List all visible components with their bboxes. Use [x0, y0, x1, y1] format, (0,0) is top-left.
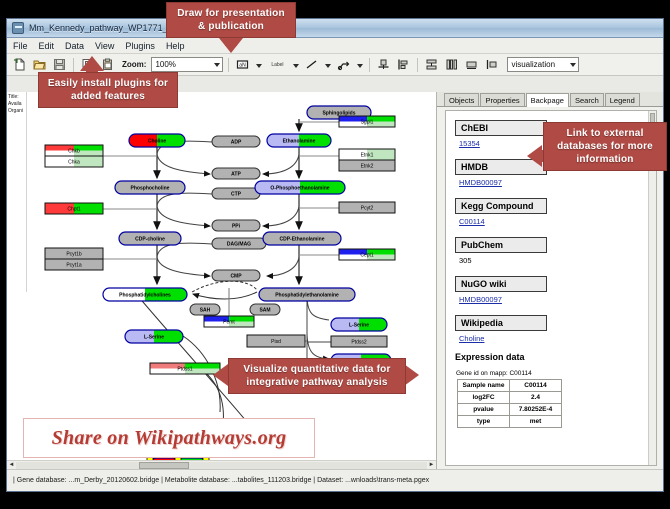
interaction-icon[interactable] [335, 56, 352, 73]
chevron-down-icon-2 [570, 63, 576, 67]
share-banner: Share on Wikipathways.org [23, 418, 315, 458]
side-panel-tabs: Objects Properties Backpage Search Legen… [437, 92, 663, 107]
cofactor-node[interactable]: DAG/MAG [212, 238, 266, 249]
toolbar-separator-4 [417, 58, 418, 72]
nugo-header: NuGO wiki [455, 276, 547, 292]
menu-data[interactable]: Data [64, 41, 85, 51]
toolbar-separator-2 [228, 58, 229, 72]
label-dropdown[interactable] [291, 57, 300, 73]
scroll-thumb[interactable] [139, 462, 188, 469]
metabolite-node-choline-top[interactable]: Choline [129, 134, 185, 147]
canvas-horizontal-scrollbar[interactable]: ◄ ► [7, 460, 436, 469]
hmdb-link[interactable]: HMDB00097 [459, 178, 656, 187]
cofactor-node[interactable]: SAM [250, 304, 280, 315]
zoom-value: 100% [155, 60, 175, 69]
pathway-canvas[interactable]: Title: Availa Organi [7, 92, 437, 469]
cell-sample-name-key: Sample name [458, 380, 510, 392]
menu-view[interactable]: View [94, 41, 115, 51]
status-bar: | Gene database: ...m_Derby_20120602.bri… [7, 469, 663, 491]
callout-visual-arrow-right [404, 364, 419, 386]
cell-pvalue-val: 7.80252E-4 [510, 404, 562, 416]
pubchem-value: 305 [459, 256, 656, 265]
expression-data-title: Expression data [455, 352, 656, 362]
table-row: pvalue 7.80252E-4 [458, 404, 562, 416]
kegg-header: Kegg Compound [455, 198, 547, 214]
tab-search[interactable]: Search [570, 93, 604, 106]
metabolite-node-l-serine-right[interactable]: L-Serine [331, 318, 387, 331]
callout-easily-install-plugins: Easily install plugins for added feature… [38, 72, 178, 108]
callout-visualize-quantitative-data: Visualize quantitative data for integrat… [228, 358, 406, 394]
chebi-header: ChEBI [455, 120, 547, 136]
toolbar-separator [73, 58, 74, 72]
tab-legend[interactable]: Legend [605, 93, 640, 106]
metabolite-node-cdp-choline[interactable]: CDP-choline [119, 232, 181, 245]
cofactor-node[interactable]: CMP [212, 270, 260, 281]
wikipedia-link[interactable]: Choline [459, 334, 656, 343]
stack-vertical-icon[interactable] [423, 56, 440, 73]
new-file-icon[interactable] [11, 56, 28, 73]
metabolite-node-o-phosphoethanolamine[interactable]: O-Phosphoethanolamine [255, 181, 345, 194]
toolbar-separator-3 [369, 58, 370, 72]
visualization-combo[interactable]: visualization [507, 57, 579, 72]
zoom-label: Zoom: [122, 60, 146, 69]
gene-node-chkb[interactable]: Chkb [45, 145, 103, 156]
pubchem-header: PubChem [455, 237, 547, 253]
table-row: type met [458, 416, 562, 428]
pathvisio-icon [12, 22, 24, 34]
tab-objects[interactable]: Objects [444, 93, 479, 106]
gene-node-chka[interactable]: Chka [45, 156, 103, 167]
table-row: Sample name C00114 [458, 380, 562, 392]
zoom-combo[interactable]: 100% [151, 57, 223, 72]
scroll-track[interactable] [16, 462, 427, 469]
menu-edit[interactable]: Edit [38, 41, 56, 51]
table-row: log2FC 2.4 [458, 392, 562, 404]
metabolite-node-phosphatidylcholines[interactable]: Phosphatidylcholines [103, 288, 187, 301]
gene-id-on-mapp: Gene id on mapp: C00114 [456, 370, 656, 377]
metabolite-node-cdp-ethanolamine[interactable]: CDP-Ethanolamine [263, 232, 341, 245]
gene-node-pisd[interactable]: Pisd [247, 335, 305, 347]
nugo-link[interactable]: HMDB00097 [459, 295, 656, 304]
cofactor-node[interactable]: CTP [212, 188, 260, 199]
metabolite-node-l-serine-left[interactable]: L-Serine [125, 330, 183, 343]
cell-type-val: met [510, 416, 562, 428]
cofactor-node[interactable]: PPi [212, 220, 260, 231]
scroll-right-icon[interactable]: ► [427, 461, 436, 470]
title-bar: Mm_Kennedy_pathway_WP1771_45176.gpml [7, 19, 663, 38]
menu-file[interactable]: File [12, 41, 29, 51]
cofactor-node[interactable]: SAH [190, 304, 220, 315]
tab-properties[interactable]: Properties [480, 93, 524, 106]
label-icon[interactable]: Label [266, 56, 288, 73]
gene-node-pcyt1b[interactable]: Pcyt1b [45, 248, 103, 259]
group-icon[interactable] [483, 56, 500, 73]
size-equal-icon[interactable] [463, 56, 480, 73]
gene-node-etnk2[interactable]: Etnk2 [339, 160, 395, 171]
status-text: | Gene database: ...m_Derby_20120602.bri… [13, 477, 429, 484]
kegg-link[interactable]: C00114 [459, 217, 656, 226]
gene-node-pemt[interactable]: Pemt [204, 316, 254, 327]
align-left-icon[interactable] [395, 56, 412, 73]
line-icon[interactable] [303, 56, 320, 73]
callout-link-to-external-databases: Link to external databases for more info… [543, 122, 667, 171]
align-bottom-icon[interactable] [375, 56, 392, 73]
svg-text:aN: aN [240, 62, 247, 68]
label-icon-text: Label [271, 62, 283, 68]
chevron-down-icon [214, 63, 220, 67]
metabolite-node-phosphatidylethanolamine[interactable]: Phosphatidylethanolamine [259, 288, 355, 301]
cell-log2fc-key: log2FC [458, 392, 510, 404]
scroll-left-icon[interactable]: ◄ [7, 461, 16, 470]
gene-node-ptdss1[interactable]: Ptdss1 [150, 363, 220, 374]
cell-type-key: type [458, 416, 510, 428]
interaction-dropdown[interactable] [355, 57, 364, 73]
metabolite-node-phosphocholine[interactable]: Phosphocholine [115, 181, 185, 194]
menu-bar: File Edit Data View Plugins Help [7, 38, 663, 54]
gene-node-pcyt2[interactable]: Pcyt2 [339, 202, 395, 213]
cell-log2fc-val: 2.4 [510, 392, 562, 404]
callout-plugins-arrow [80, 56, 104, 71]
cell-sample-name-val: C00114 [510, 380, 562, 392]
gene-node-pcyt1a[interactable]: Pcyt1a [45, 259, 103, 270]
callout-draw-for-presentation: Draw for presentation & publication [166, 2, 296, 38]
gene-node-sgpl1[interactable]: Sgpl1 [339, 116, 395, 127]
cell-pvalue-key: pvalue [458, 404, 510, 416]
open-folder-icon[interactable] [31, 56, 48, 73]
metabolite-node-ethanolamine[interactable]: Ethanolamine [267, 134, 331, 147]
gene-node-ptdss2[interactable]: Ptdss2 [331, 336, 387, 347]
wikipedia-header: Wikipedia [455, 315, 547, 331]
pathway-graph[interactable]: ADPATPCTPPPiDAG/MAGCMPSAHSAM Sphingolipi… [7, 92, 437, 469]
datanode-dropdown[interactable] [254, 57, 263, 73]
visualization-value: visualization [511, 60, 555, 69]
gene-node-chpt1[interactable]: Chpt1 [45, 203, 103, 214]
menu-help[interactable]: Help [165, 41, 186, 51]
gene-node-etnk1[interactable]: Etnk1 [339, 149, 395, 160]
share-banner-text: Share on Wikipathways.org [52, 427, 287, 450]
distribute-icon[interactable] [443, 56, 460, 73]
expression-table: Sample name C00114 log2FC 2.4 pvalue 7.8… [457, 379, 562, 428]
menu-plugins[interactable]: Plugins [124, 41, 156, 51]
datanode-icon[interactable]: aN [234, 56, 251, 73]
save-icon[interactable] [51, 56, 68, 73]
cofactor-node[interactable]: ADP [212, 136, 260, 147]
tab-backpage[interactable]: Backpage [526, 93, 569, 107]
cofactor-node[interactable]: ATP [212, 168, 260, 179]
gene-node-cept1[interactable]: Cept1 [339, 249, 395, 260]
line-dropdown[interactable] [323, 57, 332, 73]
